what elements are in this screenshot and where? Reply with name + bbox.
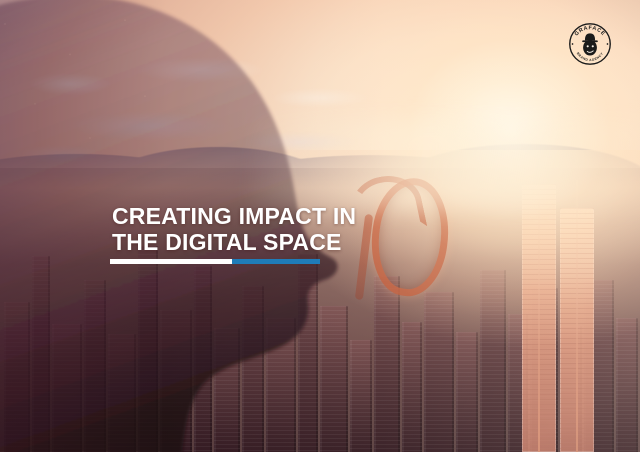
sun-haze-overlay xyxy=(240,150,640,452)
graface-logo[interactable]: GRAFACE BRAND AGENCY xyxy=(567,21,613,67)
hero-banner: CREATING IMPACT IN THE DIGITAL SPACE xyxy=(0,0,640,452)
accent-bar-blue-segment xyxy=(232,259,320,264)
headline: CREATING IMPACT IN THE DIGITAL SPACE xyxy=(112,205,356,254)
headline-accent-bar xyxy=(110,259,320,264)
face-with-hat-icon xyxy=(582,33,598,55)
accent-bar-white-segment xyxy=(110,259,232,264)
logo-dot-left xyxy=(572,43,574,45)
headline-line-1: CREATING IMPACT IN xyxy=(112,205,356,228)
headline-line-2: THE DIGITAL SPACE xyxy=(112,231,356,254)
logo-dot-right xyxy=(607,43,609,45)
